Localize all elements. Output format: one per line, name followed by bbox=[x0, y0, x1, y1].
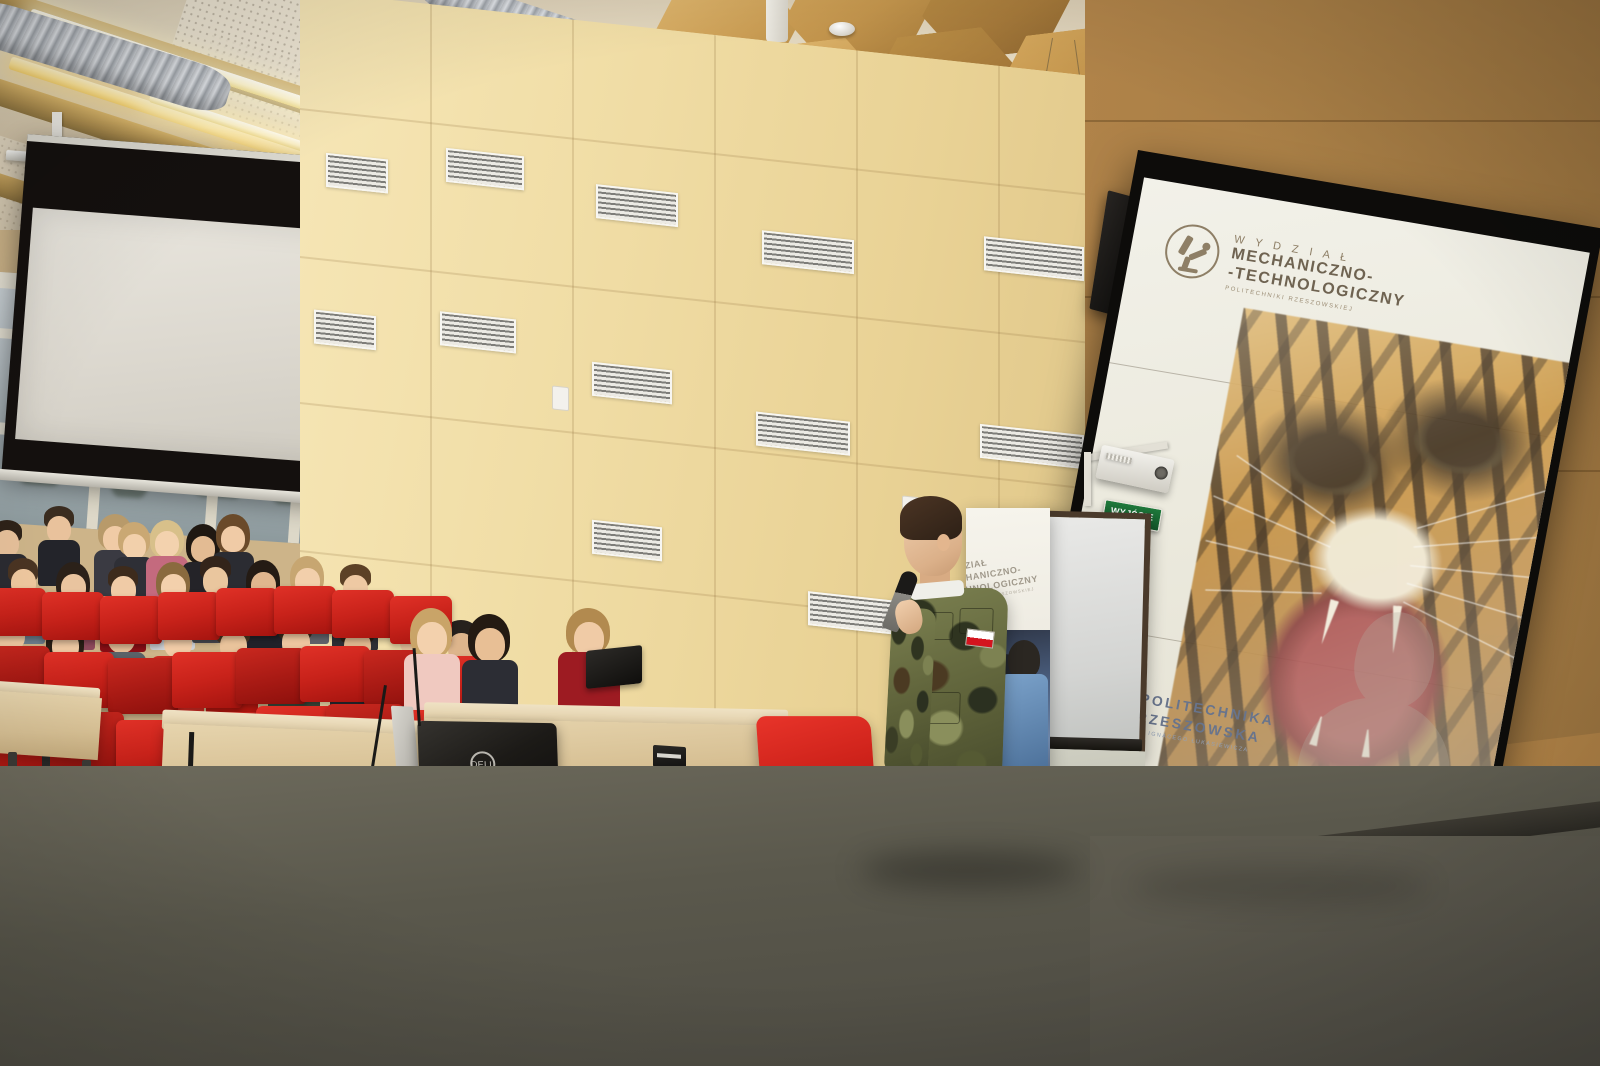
presenter-ear bbox=[937, 534, 950, 551]
wall-socket[interactable] bbox=[552, 385, 569, 411]
wall-vent bbox=[326, 153, 388, 194]
student-desk-panel bbox=[0, 690, 102, 760]
whiteboard: whiteboard bbox=[1037, 511, 1151, 759]
projector-lens-icon bbox=[1154, 465, 1169, 480]
wall-vent bbox=[314, 310, 376, 351]
smoke-detector-icon bbox=[829, 22, 855, 36]
robot-arm-icon bbox=[1161, 220, 1224, 282]
audience-laptop bbox=[586, 645, 642, 689]
faculty-logo: W Y D Z I A Ł MECHANICZNO- -TECHNOLOGICZ… bbox=[1159, 220, 1412, 321]
polish-flag-patch-icon bbox=[965, 628, 995, 648]
pendant-light bbox=[766, 0, 788, 42]
presenter-hair bbox=[900, 496, 962, 540]
lecture-hall-photo: retracted projection screen (blank) bbox=[0, 0, 1600, 1066]
